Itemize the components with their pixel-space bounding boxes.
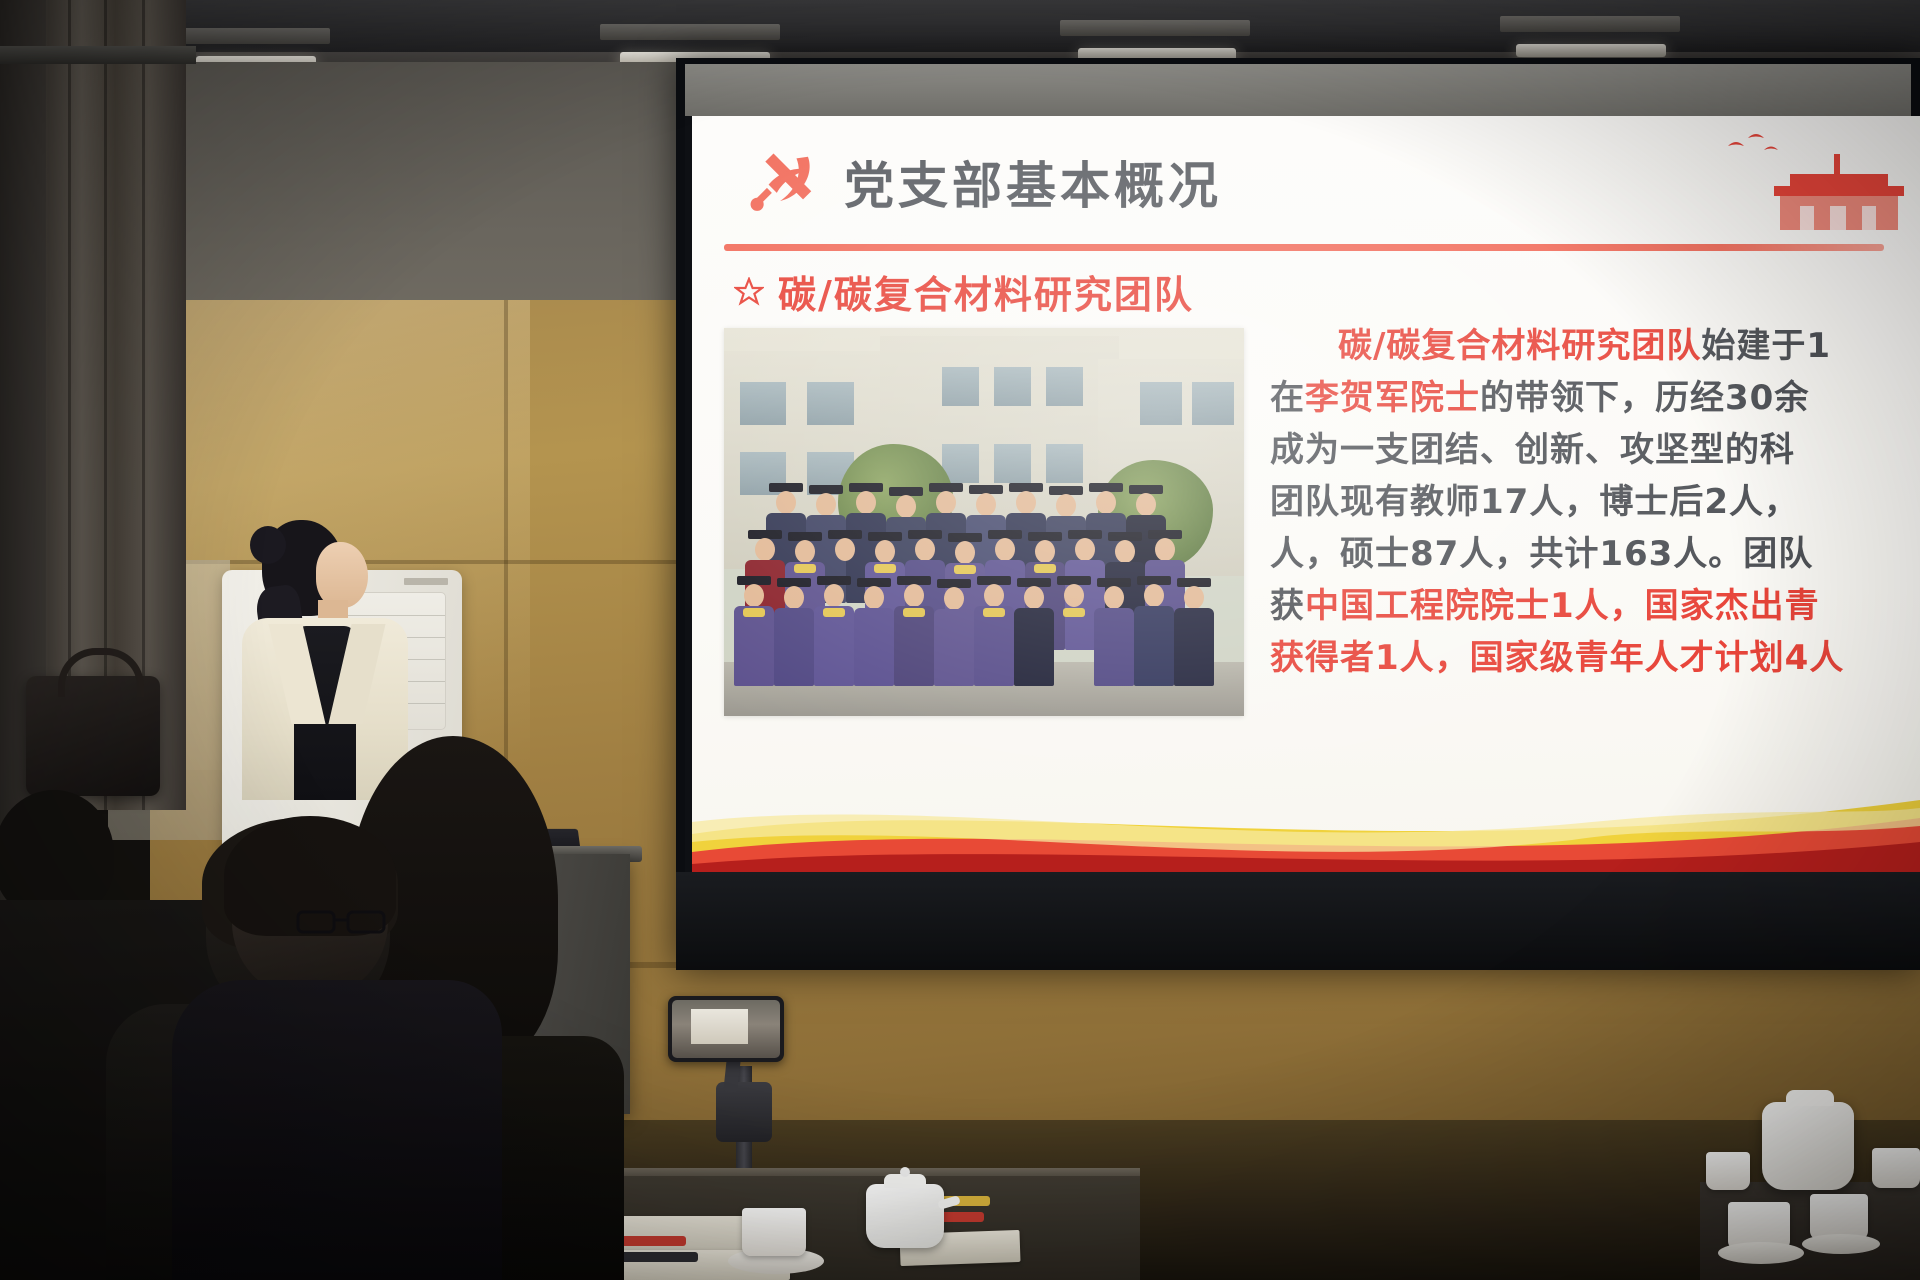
white-kettle [1762,1102,1854,1190]
conference-room-scene: 党支部基本概况 [0,0,1920,1280]
slide-body-segment: 中国工程院院士1人，国家杰出青 [1305,586,1820,626]
phone-screen [672,1000,780,1058]
slide-body-line: 碳/碳复合材料研究团队始建于1 [1270,320,1920,372]
presenter-hair-bun [250,526,286,564]
tea-cups [1872,1148,1920,1188]
projection-screen-bottom [676,872,1920,970]
white-teapot [866,1184,944,1248]
ceiling-light [1516,44,1666,57]
slide-body-line: 人，硕士87人，共计163人。团队 [1270,528,1920,580]
slide-body-segment: 人，硕士87人，共计163人。团队 [1270,534,1813,574]
slide-footer-ribbon [692,760,1920,876]
curtain-rail [0,46,196,64]
slide-body-line: 团队现有教师17人，博士后2人， [1270,476,1920,528]
slide-body-segment: 在 [1270,378,1305,418]
attendee-with-glasses [192,816,492,1280]
slide-corner-decoration [1690,116,1920,236]
slide-subtitle: 碳/碳复合材料研究团队 [778,264,1194,319]
title-divider [724,244,1884,251]
slide-body-segment: 的带领下，历经30余 [1480,378,1809,418]
hammer-and-sickle-icon [744,142,826,224]
slide-body-line: 成为一支团结、创新、攻坚型的科 [1270,424,1920,476]
slide-body-line: 在李贺军院士的带领下，历经30余 [1270,372,1920,424]
graduation-group-photo [724,328,1244,716]
tea-cups [742,1208,806,1256]
tiananmen-gate-icon [1764,152,1914,230]
ceiling-vent [1060,20,1250,36]
presentation-slide: 党支部基本概况 [692,116,1920,876]
kettle-lid [1786,1090,1834,1106]
slide-body-segment: 获 [1270,586,1305,626]
marker-pen [616,1252,698,1262]
slide-subtitle-row: 碳/碳复合材料研究团队 [734,264,1194,319]
tea-service-set [1740,1090,1920,1280]
black-handbag [26,676,160,796]
saucer [1718,1242,1804,1264]
ceiling-vent [1500,16,1680,32]
presenter-face [316,542,368,608]
ceiling-vent [600,24,780,40]
smartphone-on-gimbal[interactable] [668,996,784,1062]
slide-body-segment: 获得者1人，国家级青年人才计划4人 [1270,638,1844,678]
eyeglasses-icon [296,908,388,934]
teapot-knob [900,1167,910,1177]
slide-body-segment: 团队现有教师17人，博士后2人， [1270,482,1799,522]
slide-body-segment: 李贺军院士 [1305,378,1480,418]
star-icon [734,277,764,307]
slide-body-segment: 碳/碳复合材料研究团队 [1338,326,1701,366]
projection-screen-top-bar [685,64,1911,116]
ceiling-vent [180,28,330,44]
slide-body-line: 获中国工程院院士1人，国家杰出青 [1270,580,1920,632]
saucer [1802,1234,1880,1254]
slide-body-segment: 始建于1 [1701,326,1831,366]
slide-body-segment: 成为一支团结、创新、攻坚型的科 [1270,430,1795,470]
graduates-row [734,576,1214,686]
slide-body-text: 碳/碳复合材料研究团队始建于1在李贺军院士的带领下，历经30余成为一支团结、创新… [1270,320,1920,684]
phone-screen-preview [691,1009,747,1044]
attendee-body [172,980,502,1280]
tea-cups [1706,1152,1750,1190]
marker-pen [616,1236,686,1246]
slide-title: 党支部基本概况 [844,146,1222,218]
slide-body-line: 获得者1人，国家级青年人才计划4人 [1270,632,1920,684]
